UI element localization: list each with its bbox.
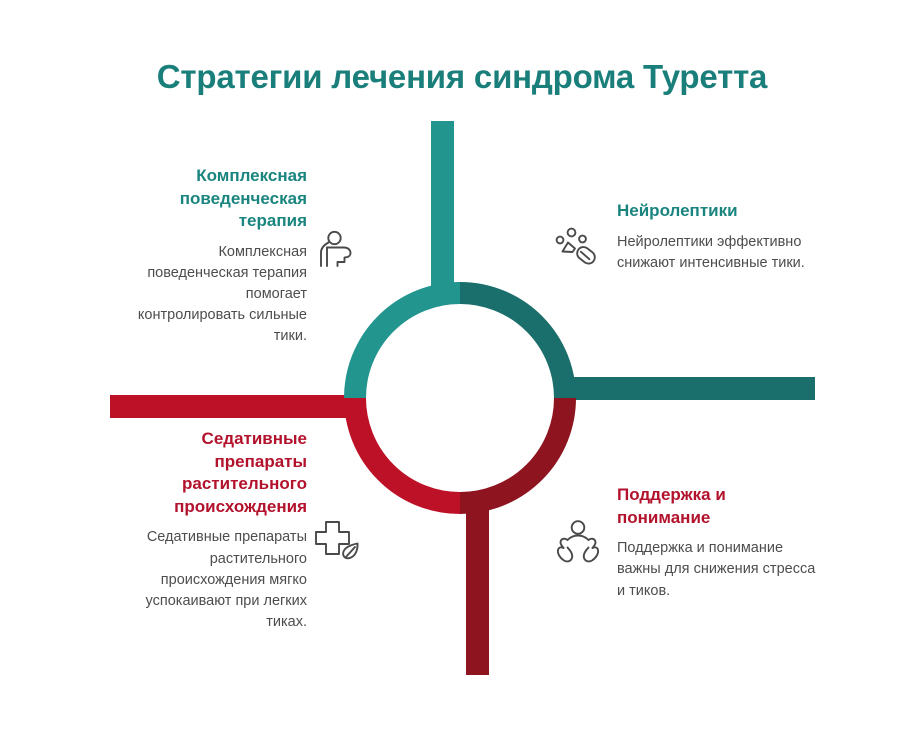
infographic-canvas: Стратегии лечения синдрома Туретта bbox=[0, 0, 924, 732]
quadrant-cbt-body: Комплексная поведенческая терапия помога… bbox=[135, 242, 307, 348]
quadrant-support-heading: Поддержка и понимание bbox=[617, 484, 822, 529]
quadrant-neuroleptics: Нейролептики Нейролептики эффективно сни… bbox=[617, 200, 817, 274]
herbal-cross-icon bbox=[313, 518, 363, 564]
ring-segment-top-left bbox=[355, 293, 460, 398]
quadrant-cbt: Комплексная поведенческая терапия Компле… bbox=[135, 165, 307, 348]
therapy-person-icon bbox=[314, 228, 358, 272]
quadrant-neuroleptics-heading: Нейролептики bbox=[617, 200, 817, 223]
page-title: Стратегии лечения синдрома Туретта bbox=[0, 58, 924, 96]
stem-top bbox=[431, 121, 454, 301]
quadrant-sedatives-heading: Седативные препараты растительного проис… bbox=[135, 428, 307, 518]
quadrant-support: Поддержка и понимание Поддержка и понима… bbox=[617, 484, 822, 602]
quadrant-support-body: Поддержка и понимание важны для снижения… bbox=[617, 538, 822, 601]
quadrant-cbt-heading: Комплексная поведенческая терапия bbox=[135, 165, 307, 233]
supporting-hands-icon bbox=[554, 518, 602, 564]
stem-right bbox=[565, 377, 815, 400]
quadrant-sedatives: Седативные препараты растительного проис… bbox=[135, 428, 307, 633]
stem-left bbox=[110, 395, 360, 418]
quadrant-neuroleptics-body: Нейролептики эффективно снижают интенсив… bbox=[617, 232, 817, 274]
pills-icon bbox=[553, 227, 599, 273]
ring-segment-bottom-right bbox=[460, 398, 565, 503]
ring-segment-bottom-left bbox=[355, 398, 460, 503]
quadrant-sedatives-body: Седативные препараты растительного проис… bbox=[135, 527, 307, 633]
ring-segment-top-right bbox=[460, 293, 565, 398]
stem-bottom bbox=[466, 495, 489, 675]
